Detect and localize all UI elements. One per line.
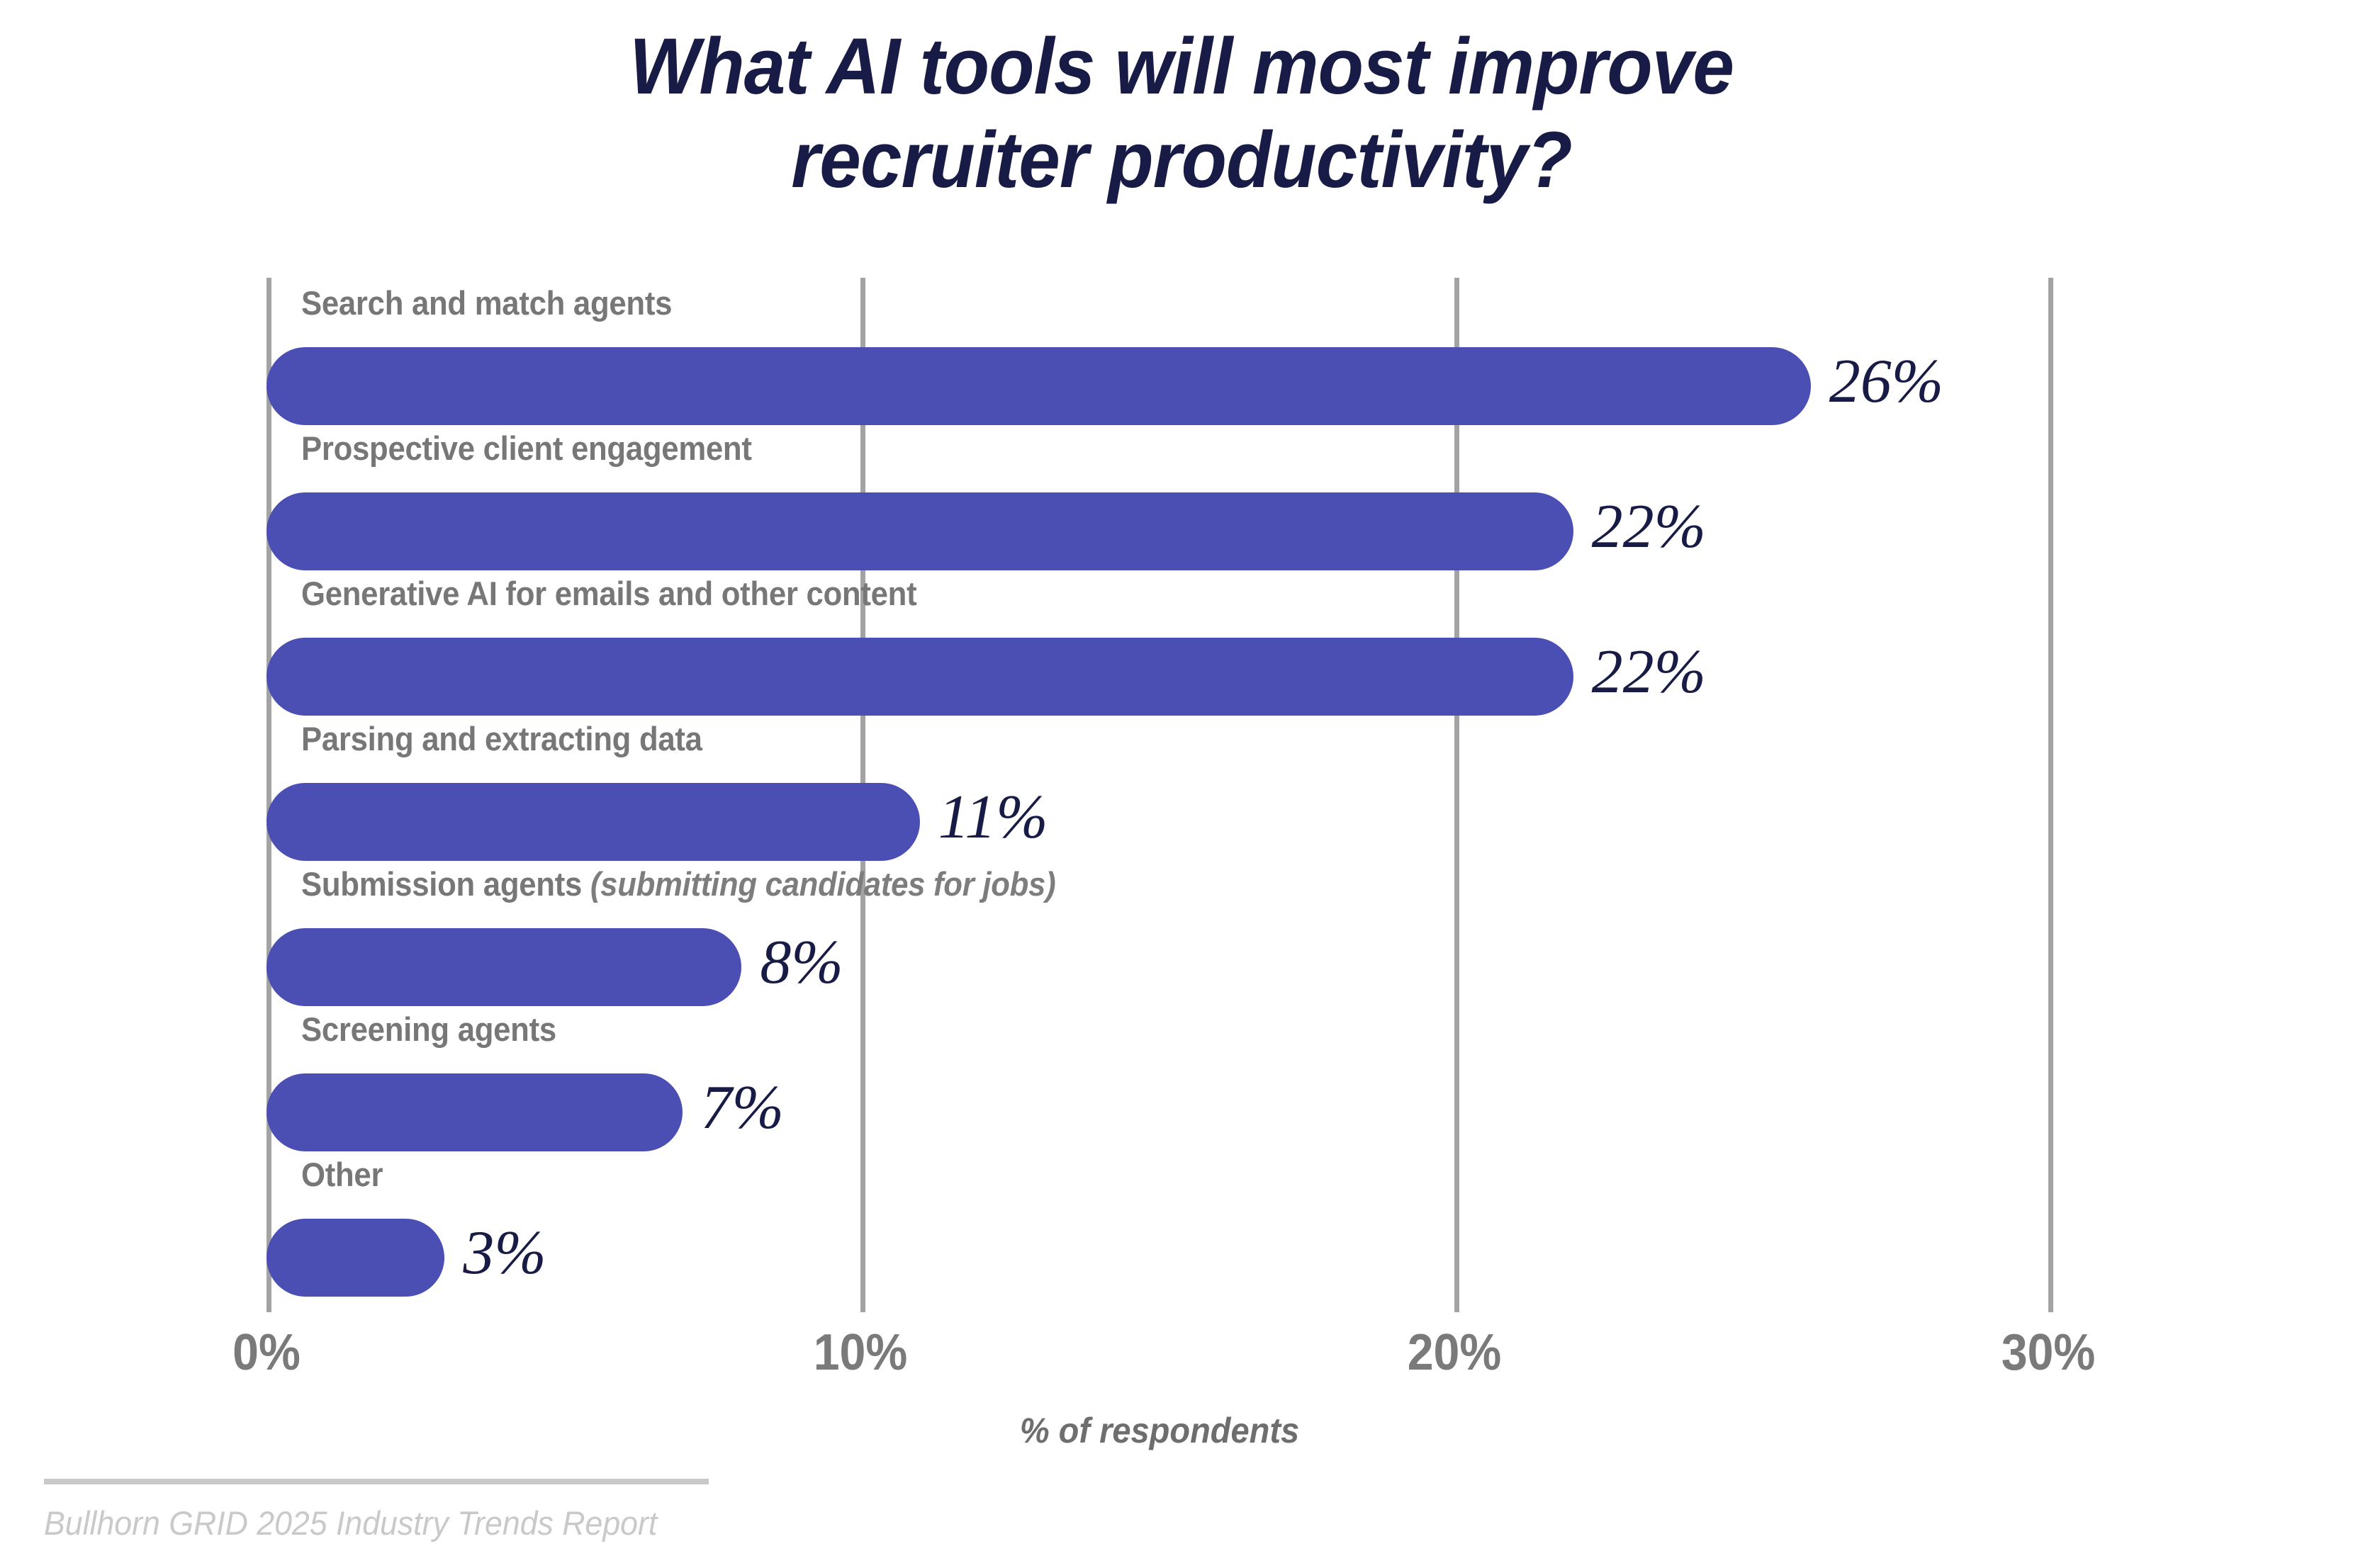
bar-category-label: Parsing and extracting data bbox=[301, 719, 702, 758]
bar-value-label: 7% bbox=[701, 1069, 784, 1147]
x-tick-label-10: 10% bbox=[814, 1324, 908, 1382]
x-tick-label-0: 0% bbox=[232, 1324, 301, 1382]
title-line-2: recruiter productivity? bbox=[71, 113, 2292, 207]
bar-row: Search and match agents26% bbox=[266, 278, 2053, 423]
footer-source: Bullhorn GRID 2025 Industry Trends Repor… bbox=[44, 1504, 657, 1542]
bar-value-label: 8% bbox=[760, 924, 843, 1002]
title-line-1: What AI tools will most improve bbox=[71, 20, 2292, 113]
bar-value-label: 3% bbox=[463, 1214, 546, 1292]
x-axis-label: % of respondents bbox=[320, 1410, 1999, 1451]
bar-category-main: Parsing and extracting data bbox=[301, 720, 702, 757]
bar-row: Submission agents (submitting candidates… bbox=[266, 859, 2053, 1004]
bar-row: Generative AI for emails and other conte… bbox=[266, 568, 2053, 714]
bar-category-label: Prospective client engagement bbox=[301, 429, 752, 468]
x-tick-label-20: 20% bbox=[1408, 1324, 1502, 1382]
bar-category-label: Screening agents bbox=[301, 1010, 556, 1049]
bar-value-label: 26% bbox=[1829, 343, 1943, 421]
bar-category-main: Submission agents bbox=[301, 865, 582, 903]
bar bbox=[266, 492, 1573, 570]
x-tick-label-30: 30% bbox=[2002, 1324, 2096, 1382]
bar-row: Parsing and extracting data11% bbox=[266, 714, 2053, 859]
bar-category-main: Search and match agents bbox=[301, 284, 672, 322]
bar-row: Other3% bbox=[266, 1149, 2053, 1295]
bar-category-label: Generative AI for emails and other conte… bbox=[301, 574, 916, 613]
bar bbox=[266, 928, 741, 1006]
bar-category-label: Submission agents (submitting candidates… bbox=[301, 864, 1055, 903]
plot-area: Search and match agents26%Prospective cl… bbox=[266, 278, 2053, 1312]
bar-category-main: Other bbox=[301, 1156, 383, 1193]
bar bbox=[266, 1219, 444, 1297]
bar-category-label: Other bbox=[301, 1155, 383, 1194]
bar bbox=[266, 1073, 683, 1151]
bar-row: Screening agents7% bbox=[266, 1004, 2053, 1149]
bar bbox=[266, 638, 1573, 716]
bar-category-main: Screening agents bbox=[301, 1010, 556, 1048]
footer-divider bbox=[44, 1479, 709, 1484]
bar bbox=[266, 347, 1811, 425]
x-axis-ticks: 0%10%20%30% bbox=[0, 1324, 2363, 1387]
bar-value-label: 22% bbox=[1592, 633, 1706, 711]
bar bbox=[266, 783, 920, 861]
bar-category-label: Search and match agents bbox=[301, 283, 672, 322]
bar-row: Prospective client engagement22% bbox=[266, 423, 2053, 568]
bar-category-note: (submitting candidates for jobs) bbox=[582, 865, 1055, 903]
bar-value-label: 22% bbox=[1592, 488, 1706, 566]
bar-value-label: 11% bbox=[938, 779, 1048, 857]
bar-category-main: Generative AI for emails and other conte… bbox=[301, 575, 916, 612]
bar-category-main: Prospective client engagement bbox=[301, 429, 752, 467]
page-title: What AI tools will most improve recruite… bbox=[71, 20, 2292, 207]
chart-page: What AI tools will most improve recruite… bbox=[0, 0, 2363, 1568]
